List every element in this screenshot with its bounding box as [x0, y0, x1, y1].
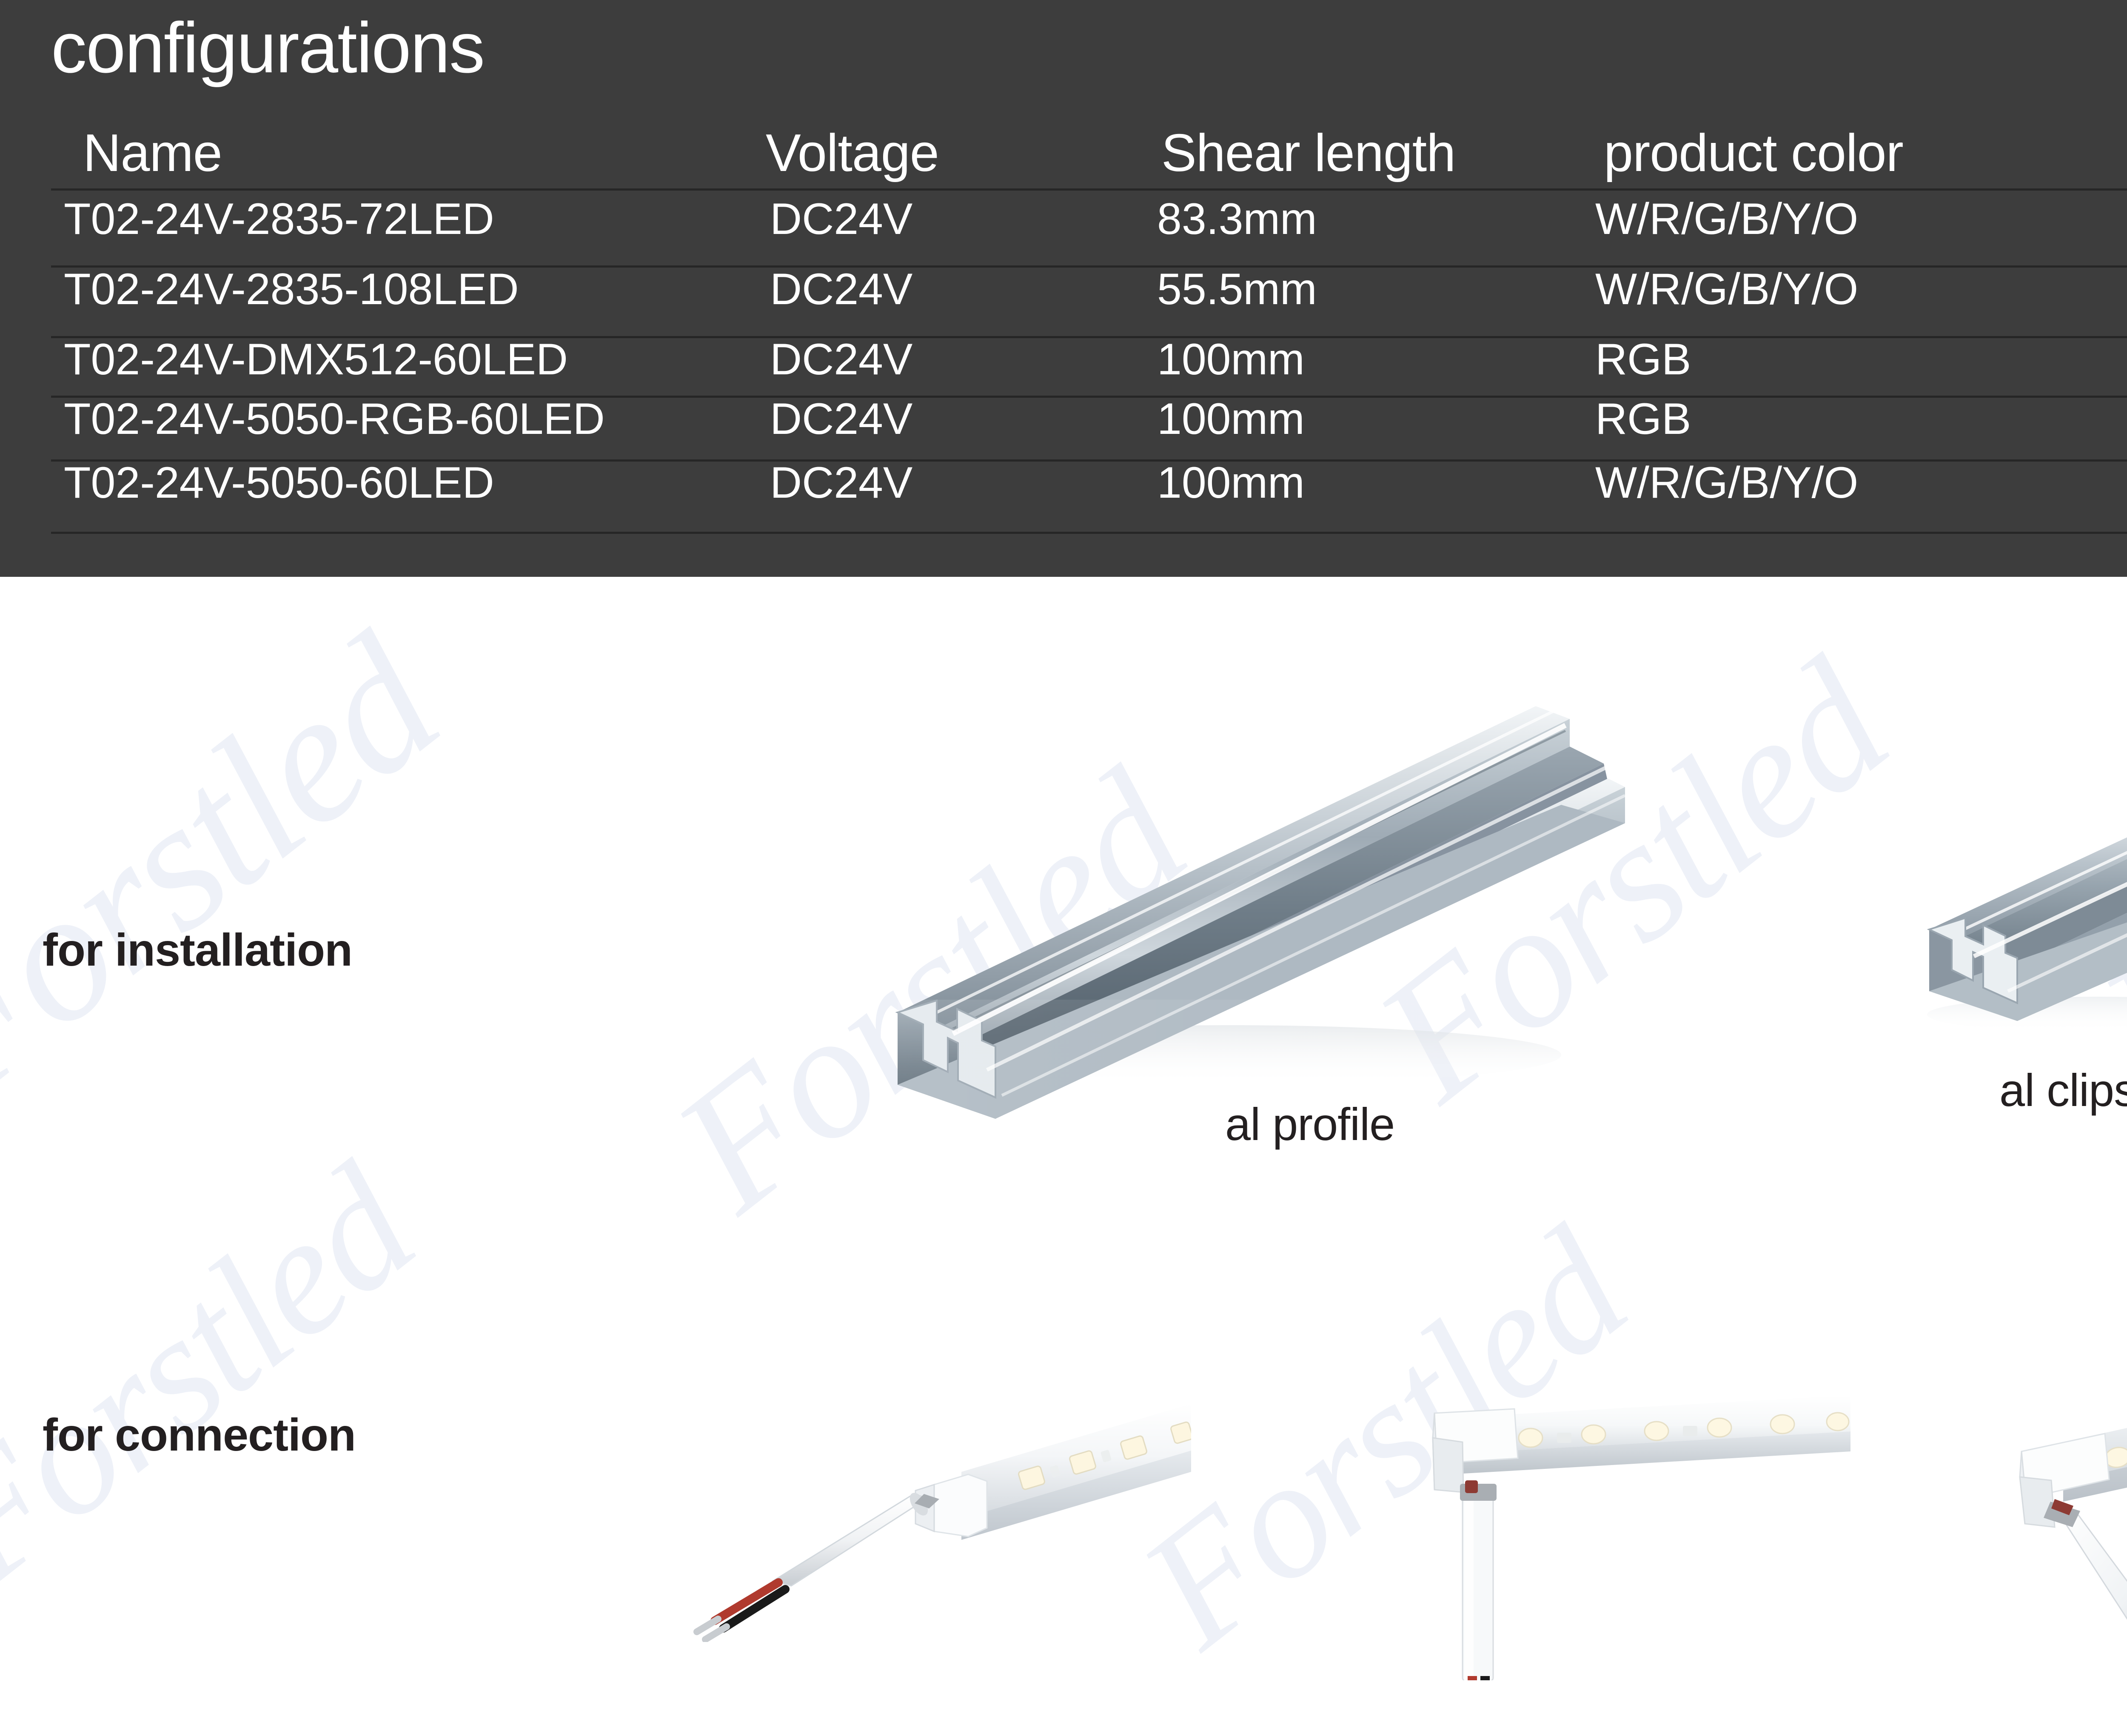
- caption-al-clips: al clips: [1999, 1063, 2127, 1117]
- cell-name: T02-24V-5050-60LED: [64, 457, 494, 508]
- table-header-row: Name Voltage Shear length product color …: [0, 128, 2127, 179]
- column-header-product-color: product color: [1604, 128, 1903, 179]
- table-row: T02-24V-2835-108LED DC24V 55.5mm W/R/G/B…: [0, 264, 2127, 315]
- cell-voltage: DC24V: [770, 393, 912, 445]
- cell-shear-length: 83.3mm: [1157, 194, 1317, 245]
- cell-voltage: DC24V: [770, 264, 912, 315]
- led-strip-cable-angled-icon: [2004, 1314, 2127, 1676]
- caption-al-profile: al profile: [1225, 1097, 1394, 1151]
- column-header-name: Name: [83, 128, 222, 179]
- cell-product-color: W/R/G/B/Y/O: [1595, 264, 1858, 315]
- al-profile-icon: [847, 655, 1625, 1132]
- led-strip-cable-straight-icon: [664, 1344, 1191, 1642]
- configurations-panel: configurations Name Voltage Shear length…: [0, 0, 2127, 577]
- cell-name: T02-24V-2835-108LED: [64, 264, 519, 315]
- configurations-table: Name Voltage Shear length product color …: [0, 0, 2127, 577]
- watermark-text: Forstled: [0, 596, 475, 1139]
- section-label-installation: for installation: [43, 923, 352, 976]
- table-row: T02-24V-5050-RGB-60LED DC24V 100mm RGB 1…: [0, 393, 2127, 445]
- cell-product-color: RGB: [1595, 393, 1691, 445]
- table-row: T02-24V-DMX512-60LED DC24V 100mm RGB 12W…: [0, 334, 2127, 385]
- cell-name: T02-24V-2835-72LED: [64, 194, 494, 245]
- table-row: T02-24V-5050-60LED DC24V 100mm W/R/G/B/Y…: [0, 457, 2127, 508]
- column-header-voltage: Voltage: [766, 128, 939, 179]
- table-row: T02-24V-2835-72LED DC24V 83.3mm W/R/G/B/…: [0, 194, 2127, 245]
- cell-name: T02-24V-5050-RGB-60LED: [64, 393, 605, 445]
- cell-shear-length: 100mm: [1157, 334, 1305, 385]
- cell-voltage: DC24V: [770, 334, 912, 385]
- table-rule: [51, 532, 2127, 534]
- column-header-shear-length: Shear length: [1161, 128, 1455, 179]
- cell-voltage: DC24V: [770, 194, 912, 245]
- cell-voltage: DC24V: [770, 457, 912, 508]
- cell-product-color: W/R/G/B/Y/O: [1595, 194, 1858, 245]
- cell-name: T02-24V-DMX512-60LED: [64, 334, 568, 385]
- cell-shear-length: 100mm: [1157, 393, 1305, 445]
- cell-product-color: W/R/G/B/Y/O: [1595, 457, 1858, 508]
- section-label-connection: for connection: [43, 1408, 356, 1461]
- al-clips-icon: [1885, 749, 2127, 1046]
- watermark-text: Forstled: [0, 1129, 447, 1622]
- led-strip-cable-bottom-exit-icon: [1327, 1340, 1850, 1680]
- cell-product-color: RGB: [1595, 334, 1691, 385]
- cell-shear-length: 100mm: [1157, 457, 1305, 508]
- cell-shear-length: 55.5mm: [1157, 264, 1317, 315]
- table-rule: [51, 188, 2127, 191]
